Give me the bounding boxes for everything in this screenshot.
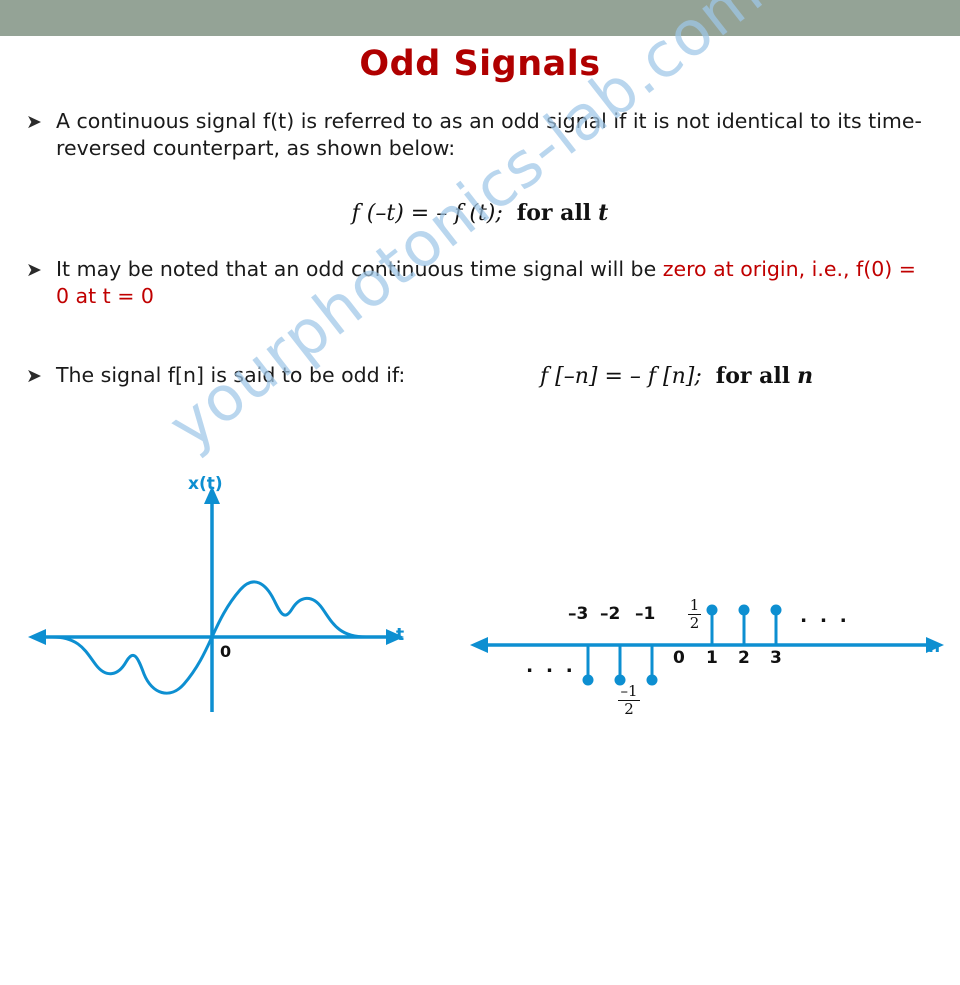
figure-discrete-odd-signal: od{x[n]} = { – 1 2 , n < 0 0 , n = 0 1 xyxy=(460,430,955,710)
equation-1-lhs: f (–t) = – f (t); xyxy=(352,201,503,226)
equation-2-lhs: f [–n] = – f [n]; xyxy=(540,364,702,389)
tick-label-neg-2: –2 xyxy=(600,604,620,624)
stem-value-positive-denominator: 2 xyxy=(688,616,701,631)
x-axis-label: n xyxy=(928,637,940,657)
slide-top-banner xyxy=(0,0,960,36)
bullet-arrow-icon: ➤ xyxy=(26,362,56,389)
y-axis-label: x(t) xyxy=(188,474,223,494)
bullet-arrow-icon: ➤ xyxy=(26,256,56,283)
stem-value-negative-numerator: 1 xyxy=(628,684,638,699)
tick-label-1: 1 xyxy=(706,648,718,668)
equation-1-variable: t xyxy=(598,200,608,226)
left-ellipsis: . . . xyxy=(526,655,576,677)
bullet-text-1: A continuous signal f(t) is referred to … xyxy=(56,108,931,163)
bullet-item-1: ➤ A continuous signal f(t) is referred t… xyxy=(26,108,931,163)
equation-2-variable: n xyxy=(797,363,813,389)
equation-2-qualifier: for all xyxy=(716,363,790,389)
tick-label-3: 3 xyxy=(770,648,782,668)
tick-label-2: 2 xyxy=(738,648,750,668)
bullet-item-3: ➤ The signal f[n] is said to be odd if: xyxy=(26,362,546,389)
stem-value-positive-numerator: 1 xyxy=(688,598,701,613)
tick-label-neg-1: –1 xyxy=(635,604,655,624)
right-ellipsis: . . . xyxy=(800,605,850,627)
equation-discrete-odd: f [–n] = – f [n];for all n xyxy=(540,363,813,389)
stem-value-negative: –1 2 xyxy=(618,684,640,717)
stem-value-positive: 1 2 xyxy=(688,598,701,631)
tick-label-origin: 0 xyxy=(673,648,685,668)
figure-continuous-odd-signal: x(t) t 0 xyxy=(20,462,440,712)
tick-label-neg-3: –3 xyxy=(568,604,588,624)
origin-label: 0 xyxy=(220,642,231,661)
bullet-text-2-plain: It may be noted that an odd continuous t… xyxy=(56,257,663,281)
bullet-text-2: It may be noted that an odd continuous t… xyxy=(56,256,931,311)
equation-1-qualifier: for all xyxy=(517,200,591,226)
x-axis-label: t xyxy=(396,625,404,645)
bullet-arrow-icon: ➤ xyxy=(26,108,56,135)
page-title: Odd Signals xyxy=(0,44,960,84)
discrete-stem-plot xyxy=(460,585,955,705)
stem-value-negative-sign: – xyxy=(620,684,628,699)
equation-continuous-odd: f (–t) = – f (t);for all t xyxy=(0,200,960,226)
stem-value-negative-denominator: 2 xyxy=(618,702,640,717)
bullet-text-3: The signal f[n] is said to be odd if: xyxy=(56,362,405,389)
bullet-item-2: ➤ It may be noted that an odd continuous… xyxy=(26,256,931,311)
continuous-signal-plot xyxy=(20,462,440,712)
slide-canvas: Odd Signals ➤ A continuous signal f(t) i… xyxy=(0,0,960,720)
